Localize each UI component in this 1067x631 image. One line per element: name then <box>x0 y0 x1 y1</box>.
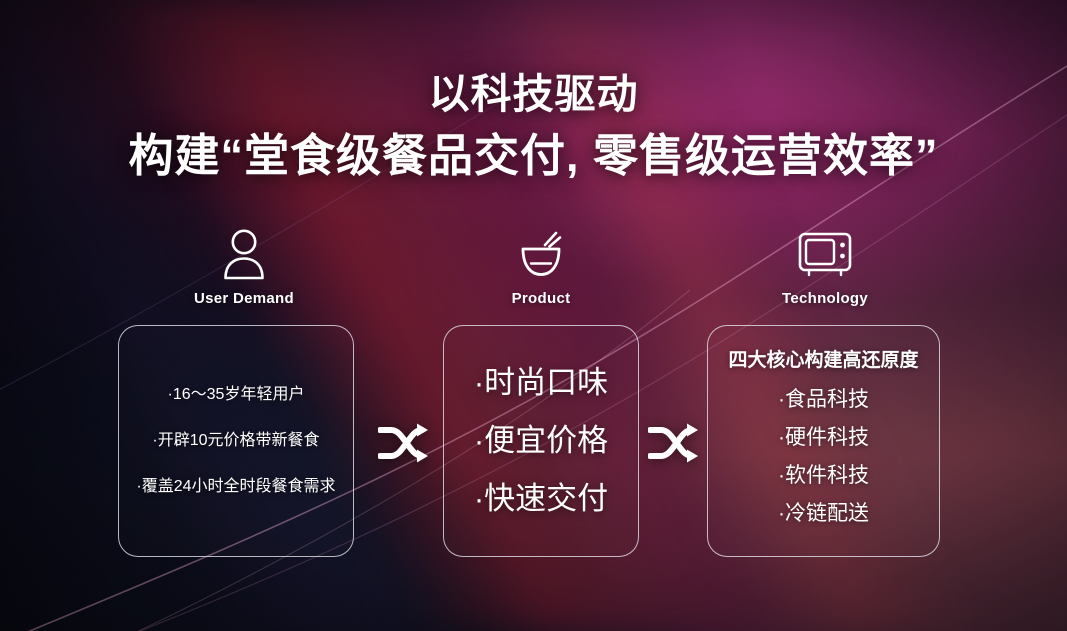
column-label-technology: Technology <box>754 290 896 307</box>
column-header-technology: Technology <box>754 228 896 307</box>
person-icon <box>163 228 325 280</box>
column-label-user-demand: User Demand <box>163 290 325 307</box>
list-item: ·快速交付 <box>454 470 628 528</box>
list-item: ·开辟10元价格带新餐食 <box>131 418 341 464</box>
column-header-product: Product <box>470 228 612 307</box>
list-item: ·硬件科技 <box>708 419 939 457</box>
user-demand-card[interactable]: ·16～35岁年轻用户 ·开辟10元价格带新餐食 ·覆盖24小时全时段餐食需求 <box>118 325 354 557</box>
page-title: 以科技驱动 构建“堂食级餐品交付, 零售级运营效率” <box>0 68 1067 186</box>
list-item: ·16～35岁年轻用户 <box>131 372 341 418</box>
shuffle-icon <box>645 417 703 469</box>
slide-canvas: 以科技驱动 构建“堂食级餐品交付, 零售级运营效率” User Demand <box>0 0 1067 631</box>
bowl-icon <box>470 228 612 280</box>
headline-line-1: 以科技驱动 <box>0 68 1067 120</box>
list-item: ·食品科技 <box>708 381 939 419</box>
technology-card-heading: 四大核心构建高还原度 <box>708 349 939 373</box>
list-item: ·便宜价格 <box>454 412 628 470</box>
product-list: ·时尚口味 ·便宜价格 ·快速交付 <box>444 354 638 528</box>
list-item: ·覆盖24小时全时段餐食需求 <box>131 464 341 510</box>
list-item: ·软件科技 <box>708 457 939 495</box>
technology-list: ·食品科技 ·硬件科技 ·软件科技 ·冷链配送 <box>708 381 939 533</box>
slide-content: 以科技驱动 构建“堂食级餐品交付, 零售级运营效率” User Demand <box>0 0 1067 631</box>
microwave-icon <box>754 228 896 280</box>
column-label-product: Product <box>470 290 612 307</box>
shuffle-icon <box>375 417 433 469</box>
list-item: ·时尚口味 <box>454 354 628 412</box>
list-item: ·冷链配送 <box>708 495 939 533</box>
user-demand-list: ·16～35岁年轻用户 ·开辟10元价格带新餐食 ·覆盖24小时全时段餐食需求 <box>119 372 353 510</box>
technology-card[interactable]: 四大核心构建高还原度 ·食品科技 ·硬件科技 ·软件科技 ·冷链配送 <box>707 325 940 557</box>
product-card[interactable]: ·时尚口味 ·便宜价格 ·快速交付 <box>443 325 639 557</box>
headline-line-2: 构建“堂食级餐品交付, 零售级运营效率” <box>0 126 1067 186</box>
column-header-user-demand: User Demand <box>163 228 325 307</box>
